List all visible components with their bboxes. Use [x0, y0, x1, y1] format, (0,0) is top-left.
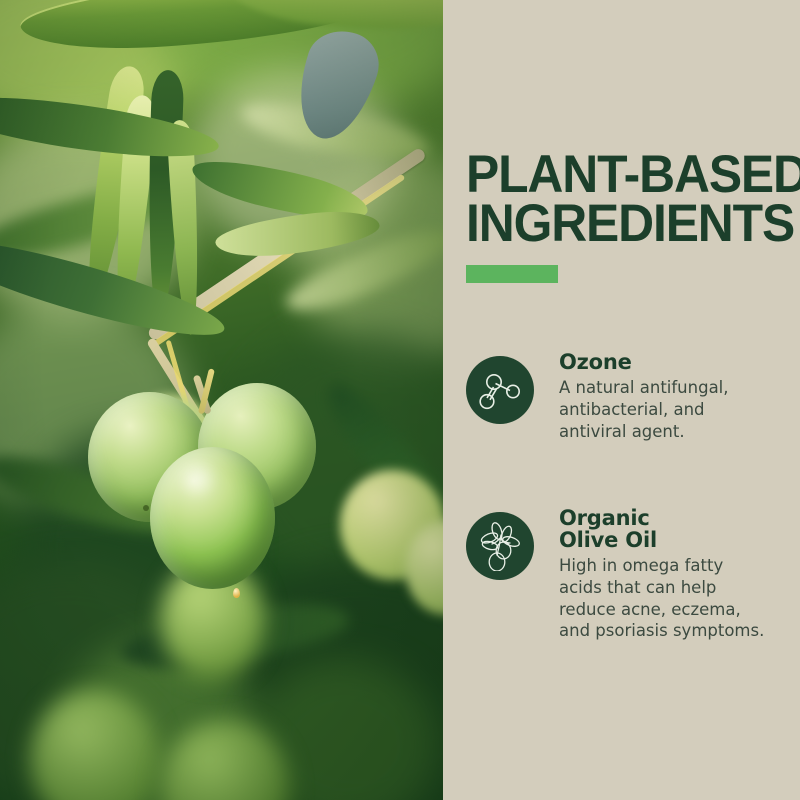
olive-oil-description: High in omega fatty acids that can help … — [559, 555, 769, 643]
content-panel: PLANT-BASED INGREDIENTS Ozone A natural … — [443, 0, 800, 800]
photo-vignette — [0, 0, 443, 800]
olive-branch-icon — [466, 512, 534, 580]
accent-bar — [466, 265, 558, 283]
ozone-text-block: Ozone A natural antifungal, antibacteria… — [559, 352, 769, 443]
page-title: PLANT-BASED INGREDIENTS — [466, 150, 767, 249]
ozone-molecule-icon — [466, 356, 534, 424]
ingredients-poster: PLANT-BASED INGREDIENTS Ozone A natural … — [0, 0, 800, 800]
olive-oil-title-line-1: Organic — [559, 506, 650, 530]
olive-oil-title: Organic Olive Oil — [559, 508, 769, 552]
ingredient-item-ozone: Ozone A natural antifungal, antibacteria… — [466, 352, 769, 443]
ozone-title: Ozone — [559, 352, 769, 374]
olive-tree-photo — [0, 0, 443, 800]
ingredient-item-olive-oil: Organic Olive Oil High in omega fatty ac… — [466, 508, 769, 642]
olive-oil-title-line-2: Olive Oil — [559, 528, 657, 552]
page-title-line-1: PLANT-BASED — [466, 150, 767, 199]
olive-oil-text-block: Organic Olive Oil High in omega fatty ac… — [559, 508, 769, 642]
ozone-description: A natural antifungal, antibacterial, and… — [559, 377, 769, 443]
page-title-line-2: INGREDIENTS — [466, 199, 767, 248]
